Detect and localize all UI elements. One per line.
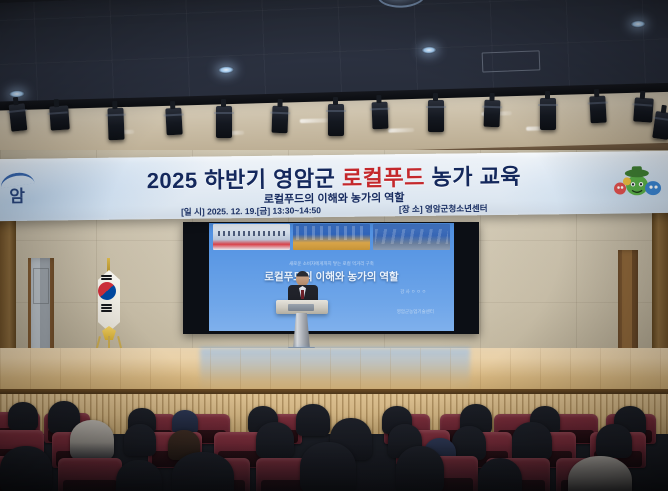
audience-person <box>452 426 486 460</box>
flag-pole-finial <box>107 258 110 272</box>
podium-top <box>276 300 328 314</box>
speaker-head <box>296 271 309 286</box>
audience-person <box>172 452 234 491</box>
wall-light-reflection <box>388 128 414 133</box>
slide-photo-strip <box>213 224 450 250</box>
podium-front-panel <box>288 304 314 311</box>
stage-light-fixture <box>633 97 654 122</box>
korean-national-flag <box>92 258 126 360</box>
banner-title-prefix: 2025 하반기 영암군 <box>147 166 343 193</box>
stage-light-fixture <box>372 102 389 130</box>
slide-title: 로컬푸드의 이해와 농가의 역할 <box>209 269 454 284</box>
stage-light-fixture <box>589 96 606 124</box>
audience-person <box>0 446 52 491</box>
stage-light-fixture <box>428 100 444 132</box>
banner-title-highlight: 로컬푸드 <box>342 165 425 191</box>
stage-light-fixture <box>328 104 344 136</box>
stage-light-fixture <box>165 108 182 136</box>
stage-door-left[interactable] <box>28 258 54 362</box>
audience-person <box>300 442 356 491</box>
audience-person <box>296 404 330 436</box>
stage-gloss <box>0 348 668 394</box>
slide-byline-secondary: 영암군농업기술센터 <box>397 309 434 315</box>
projection-screen-frame: 새로운 소비자에게까지 닿는 로컬 먹거리 구축 로컬푸드의 이해와 농가의 역… <box>183 222 479 334</box>
audience-person <box>396 446 444 491</box>
stage-floor <box>0 348 668 394</box>
banner-place: [장 소] 영암군청소년센터 <box>399 202 488 215</box>
stage-light-fixture <box>216 106 232 138</box>
audience-person <box>478 458 522 491</box>
stage-light-fixture <box>484 100 501 128</box>
stage-light-fixture <box>107 108 124 141</box>
banner-date: [일 시] 2025. 12. 19.[금] 13:30~14:50 <box>181 204 321 218</box>
trigram-icon <box>101 278 112 280</box>
stage-light-fixture <box>652 111 668 140</box>
slide-eyebrow: 새로운 소비자에게까지 닿는 로컬 먹거리 구축 <box>209 261 454 267</box>
audience-person <box>70 420 114 460</box>
trigram-icon <box>101 304 112 306</box>
audience-person <box>596 424 632 458</box>
audience-person <box>512 422 552 460</box>
trigram-icon <box>101 275 112 277</box>
audience-person <box>256 422 294 458</box>
speaker-tie <box>301 290 304 299</box>
trigram-icon <box>101 307 112 309</box>
stage-light-fixture <box>49 105 70 130</box>
door-panel <box>33 268 49 304</box>
trigram-icon <box>101 310 112 312</box>
audience-person <box>8 402 38 430</box>
audience-seat <box>58 458 122 491</box>
auditorium-photo: 암 2025 하반기 영암군 로컬푸드 농가 교육 로컬푸드의 이해와 농가의 … <box>0 0 668 491</box>
banner-title-suffix: 농가 교육 <box>425 164 521 190</box>
wall-light-reflection <box>300 118 330 123</box>
audience-area <box>0 396 668 491</box>
slide-photo <box>373 224 450 250</box>
slide-photo <box>213 224 290 250</box>
stage-door-right[interactable] <box>618 250 638 362</box>
event-banner: 암 2025 하반기 영암군 로컬푸드 농가 교육 로컬푸드의 이해와 농가의 … <box>0 151 668 221</box>
stage-light-fixture <box>272 106 289 134</box>
slide-photo <box>293 224 370 250</box>
projection-screen: 새로운 소비자에게까지 닿는 로컬 먹거리 구축 로컬푸드의 이해와 농가의 역… <box>209 223 454 331</box>
stage-light-fixture <box>540 98 556 130</box>
slide-byline: 강 사 ㅇ ㅇ ㅇ <box>400 289 426 295</box>
ceiling-panel-outline <box>482 50 541 72</box>
audience-person <box>124 424 156 456</box>
stage-light-fixture <box>9 103 28 132</box>
